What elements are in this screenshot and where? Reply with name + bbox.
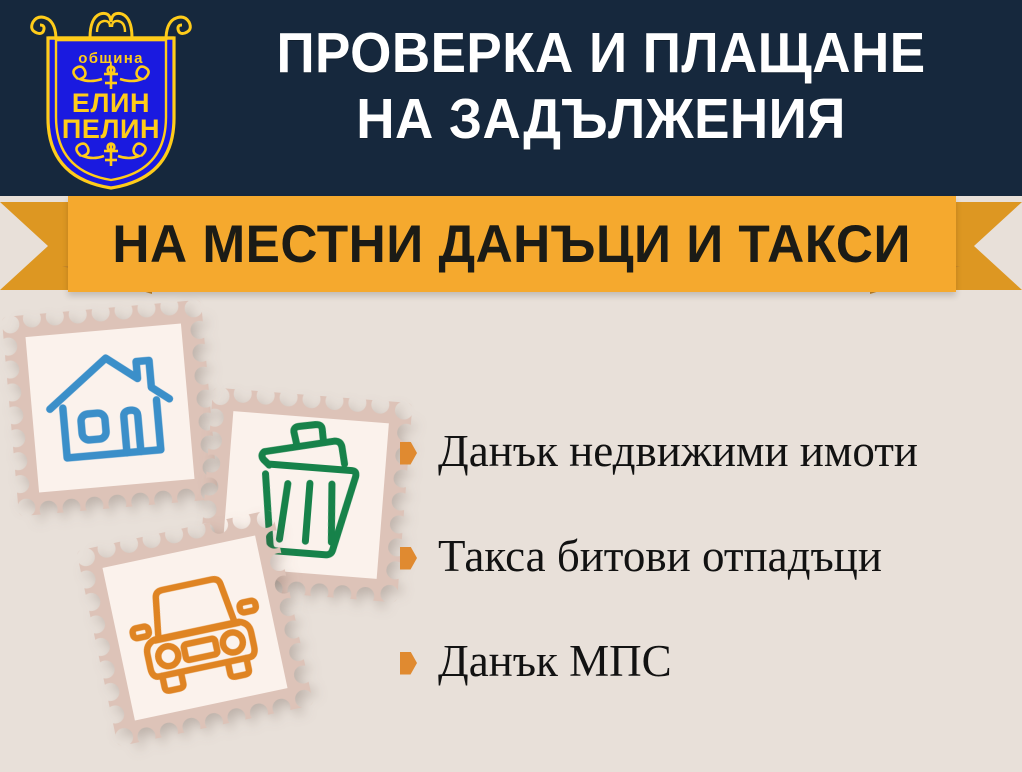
list-item[interactable]: Данък недвижими имоти [400,425,1015,477]
poster-canvas: община ЕЛИН ПЕЛИН [0,0,1022,772]
page-title-line-2: НА ЗАДЪЛЖЕНИЯ [224,86,977,152]
ribbon-label: НА МЕСТНИ ДАНЪЦИ И ТАКСИ [113,218,912,271]
bullet-arrow-icon [400,547,417,570]
header-band: община ЕЛИН ПЕЛИН [0,0,1022,196]
stamp-house [2,300,219,517]
tax-types-list: Данък недвижими имоти Такса битови отпад… [400,425,1015,687]
municipality-logo: община ЕЛИН ПЕЛИН [26,6,196,190]
bullet-arrow-icon [400,652,417,675]
subtitle-ribbon: НА МЕСТНИ ДАНЪЦИ И ТАКСИ [0,196,1022,306]
car-stamp-graphic [76,509,313,746]
logo-obshtina-text: община [78,50,144,67]
logo-name-line-2: ПЕЛИН [62,114,160,144]
page-title: ПРОВЕРКА И ПЛАЩАНЕ НА ЗАДЪЛЖЕНИЯ [196,20,1006,152]
stamp-car [76,509,313,746]
house-stamp-graphic [2,300,219,517]
elin-pelin-municipality-crest-icon: община ЕЛИН ПЕЛИН [26,6,196,190]
ribbon-band: НА МЕСТНИ ДАНЪЦИ И ТАКСИ [68,196,956,292]
bullet-arrow-icon [400,442,417,465]
list-item-label: Данък МПС [438,636,672,686]
list-item[interactable]: Данък МПС [400,635,1015,687]
page-title-line-1: ПРОВЕРКА И ПЛАЩАНЕ [224,20,977,86]
list-item-label: Такса битови отпадъци [438,531,882,581]
list-item[interactable]: Такса битови отпадъци [400,530,1015,582]
list-item-label: Данък недвижими имоти [438,426,918,476]
stamp-collage [0,300,420,772]
